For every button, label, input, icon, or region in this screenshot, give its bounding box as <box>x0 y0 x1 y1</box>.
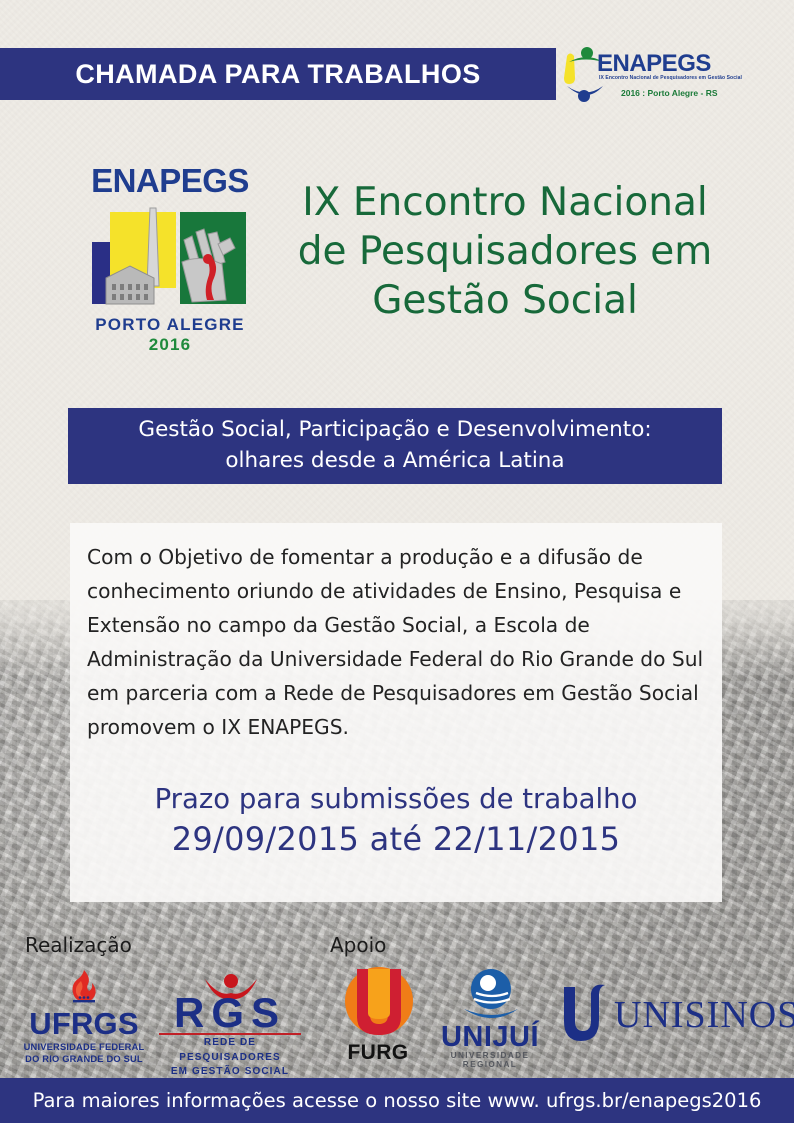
rgs-wordmark: RGS <box>155 989 305 1037</box>
body-paragraph: Com o Objetivo de fomentar a produção e … <box>87 541 705 745</box>
unisinos-u-icon <box>556 983 614 1045</box>
sponsor-logo-furg: FURG <box>330 965 426 1073</box>
sponsors-section: Realização Apoio UFRGS UNIVERSIDADE FEDE… <box>0 925 794 1075</box>
page-title: IX Encontro Nacional de Pesquisadores em… <box>275 178 735 325</box>
unisinos-wordmark: UNISINOS <box>614 993 794 1037</box>
deadline-block: Prazo para submissões de trabalho 29/09/… <box>70 781 722 861</box>
call-for-papers-banner: CHAMADA PARA TRABALHOS <box>0 48 556 100</box>
ufrgs-subtitle-line-1: UNIVERSIDADE FEDERAL <box>24 1042 145 1052</box>
header-enapegs-logo: ENAPEGS IX Encontro Nacional de Pesquisa… <box>563 44 703 106</box>
rgs-rule <box>159 1033 301 1035</box>
unijui-circle-icon <box>462 967 520 1023</box>
header-logo-wordmark: ENAPEGS <box>597 50 711 78</box>
ufrgs-subtitle: UNIVERSIDADE FEDERAL DO RIO GRANDE DO SU… <box>20 1041 148 1065</box>
realizacao-label: Realização <box>25 933 132 957</box>
unijui-wordmark: UNIJUÍ <box>432 1021 548 1054</box>
sponsor-logo-unijui: UNIJUÍ UNIVERSIDADE REGIONAL <box>432 967 548 1071</box>
ufrgs-subtitle-line-2: DO RIO GRANDE DO SUL <box>25 1054 143 1064</box>
ufrgs-flame-icon <box>67 969 101 1005</box>
furg-u-icon <box>344 965 414 1039</box>
page-title-line-2: de Pesquisadores em <box>275 227 735 276</box>
main-logo-city: PORTO ALEGRE 2016 <box>80 315 260 355</box>
header-logo-subtitle: IX Encontro Nacional de Pesquisadores em… <box>599 75 742 81</box>
furg-wordmark: FURG <box>330 1041 426 1065</box>
main-enapegs-logo: ENAPEGS <box>80 162 260 357</box>
page-title-line-1: IX Encontro Nacional <box>275 178 735 227</box>
deadline-label: Prazo para submissões de trabalho <box>70 781 722 818</box>
poster-root: CHAMADA PARA TRABALHOS ENAPEGS IX Encont… <box>0 0 794 1123</box>
theme-line-1: Gestão Social, Participação e Desenvolvi… <box>138 415 651 446</box>
porto-alegre-monument-artwork <box>88 204 254 316</box>
sponsor-logo-unisinos: UNISINOS <box>556 983 786 1059</box>
deadline-dates: 29/09/2015 até 22/11/2015 <box>70 818 722 861</box>
ufrgs-wordmark: UFRGS <box>20 1006 148 1042</box>
rgs-subtitle-line-1: REDE DE PESQUISADORES <box>179 1037 281 1063</box>
call-for-papers-text: CHAMADA PARA TRABALHOS <box>75 59 480 90</box>
sponsor-logo-rgs: RGS REDE DE PESQUISADORES EM GESTÃO SOCI… <box>155 973 305 1067</box>
main-logo-year: 2016 <box>149 335 192 354</box>
main-logo-wordmark: ENAPEGS <box>80 162 260 200</box>
main-logo-city-name: PORTO ALEGRE <box>95 315 244 334</box>
footer-website-text: Para maiores informações acesse o nosso … <box>33 1089 762 1112</box>
unijui-subtitle: UNIVERSIDADE REGIONAL <box>432 1051 548 1069</box>
theme-line-2: olhares desde a América Latina <box>225 446 564 477</box>
apoio-label: Apoio <box>330 933 386 957</box>
header-logo-edition: 2016 : Porto Alegre - RS <box>621 88 718 98</box>
theme-banner: Gestão Social, Participação e Desenvolvi… <box>68 408 722 484</box>
content-card: Com o Objetivo de fomentar a produção e … <box>70 523 722 902</box>
footer-bar: Para maiores informações acesse o nosso … <box>0 1078 794 1123</box>
sponsor-logo-ufrgs: UFRGS UNIVERSIDADE FEDERAL DO RIO GRANDE… <box>20 969 148 1069</box>
rgs-subtitle: REDE DE PESQUISADORES EM GESTÃO SOCIAL <box>155 1036 305 1080</box>
rgs-subtitle-line-2: EM GESTÃO SOCIAL <box>171 1066 289 1077</box>
page-title-line-3: Gestão Social <box>275 276 735 325</box>
